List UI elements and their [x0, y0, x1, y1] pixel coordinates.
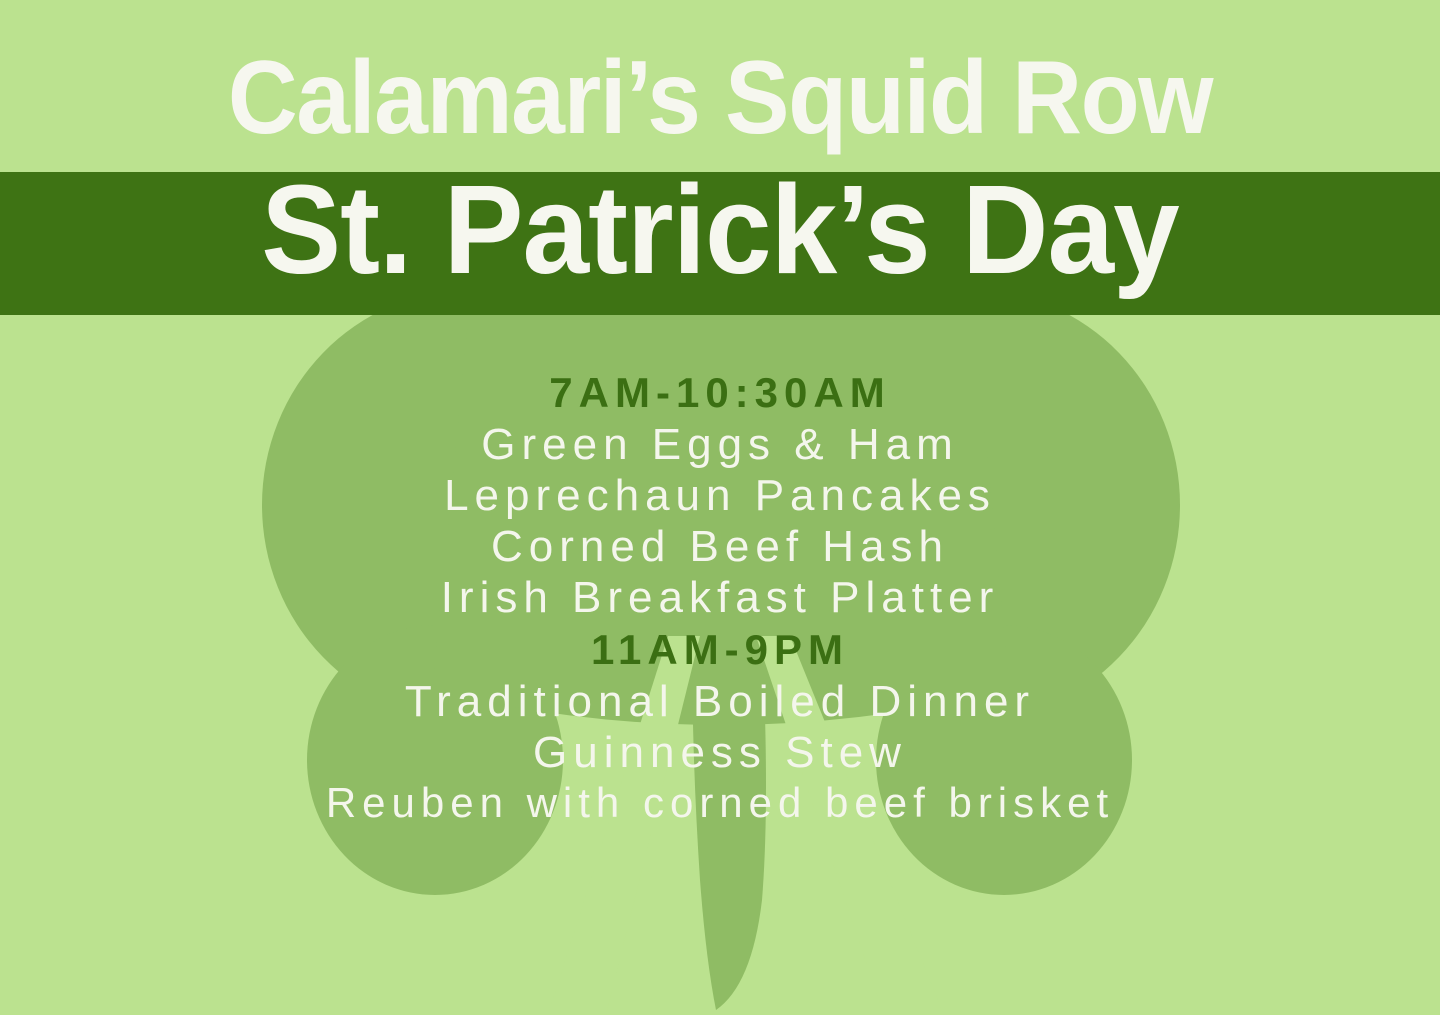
event-title: St. Patrick’s Day [36, 155, 1404, 305]
menu-section-dinner: 11AM-9PM Traditional Boiled Dinner Guinn… [0, 623, 1440, 828]
menu-section-breakfast: 7AM-10:30AM Green Eggs & Ham Leprechaun … [0, 366, 1440, 623]
menu-item: Corned Beef Hash [0, 521, 1440, 572]
menu-item: Reuben with corned beef brisket [0, 778, 1440, 828]
flyer-canvas: Calamari’s Squid Row St. Patrick’s Day 7… [0, 0, 1440, 1015]
menu-item: Guinness Stew [0, 727, 1440, 778]
menu-list: 7AM-10:30AM Green Eggs & Ham Leprechaun … [0, 366, 1440, 828]
page-title: Calamari’s Squid Row [50, 38, 1389, 158]
menu-item: Traditional Boiled Dinner [0, 676, 1440, 727]
menu-item: Leprechaun Pancakes [0, 470, 1440, 521]
menu-time-breakfast: 7AM-10:30AM [0, 366, 1440, 419]
menu-time-dinner: 11AM-9PM [0, 623, 1440, 676]
menu-item: Green Eggs & Ham [0, 419, 1440, 470]
menu-item: Irish Breakfast Platter [0, 572, 1440, 623]
